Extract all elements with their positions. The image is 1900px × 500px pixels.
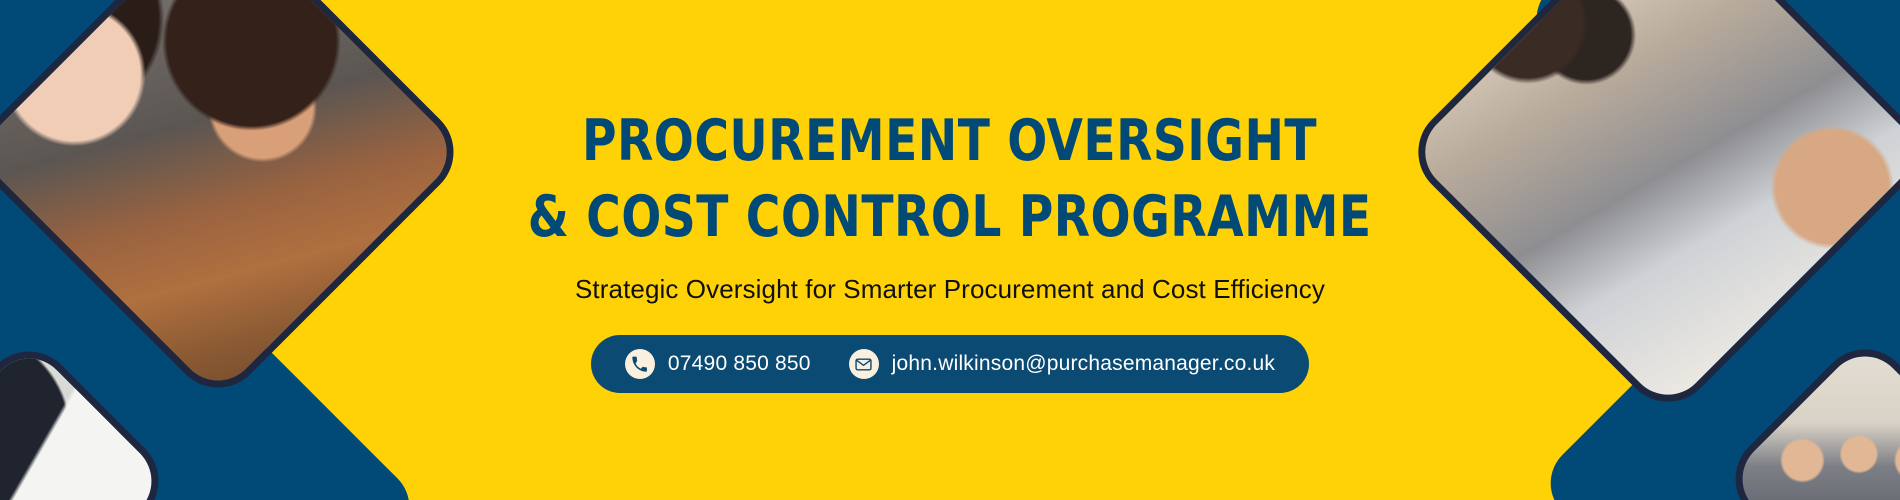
- contact-phone[interactable]: 07490 850 850: [625, 349, 811, 379]
- phone-number: 07490 850 850: [668, 352, 811, 376]
- promotional-banner: PROCUREMENT OVERSIGHT & COST CONTROL PRO…: [0, 0, 1900, 500]
- headline-line-1: PROCUREMENT OVERSIGHT: [582, 107, 1317, 177]
- contact-bar: 07490 850 850 john.wilkinson@purchaseman…: [591, 335, 1309, 393]
- headline-line-2: & COST CONTROL PROGRAMME: [528, 183, 1372, 253]
- phone-icon: [625, 349, 655, 379]
- contact-email[interactable]: john.wilkinson@purchasemanager.co.uk: [849, 349, 1275, 379]
- email-address: john.wilkinson@purchasemanager.co.uk: [892, 352, 1275, 376]
- subtitle: Strategic Oversight for Smarter Procurem…: [575, 274, 1325, 305]
- envelope-icon: [849, 349, 879, 379]
- banner-content: PROCUREMENT OVERSIGHT & COST CONTROL PRO…: [450, 0, 1450, 500]
